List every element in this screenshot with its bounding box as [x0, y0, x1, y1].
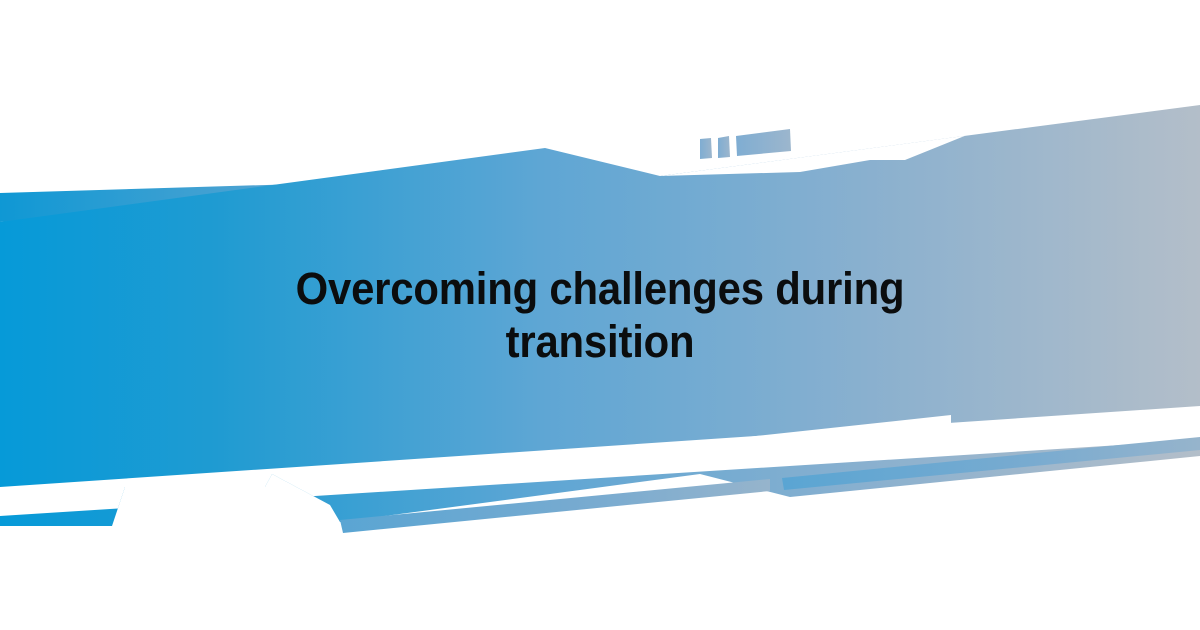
abstract-banner-graphic [0, 0, 1200, 630]
top-dash-small-2 [718, 136, 730, 158]
top-dash-small-1 [700, 138, 712, 159]
banner-card: Overcoming challenges during transition [0, 0, 1200, 630]
